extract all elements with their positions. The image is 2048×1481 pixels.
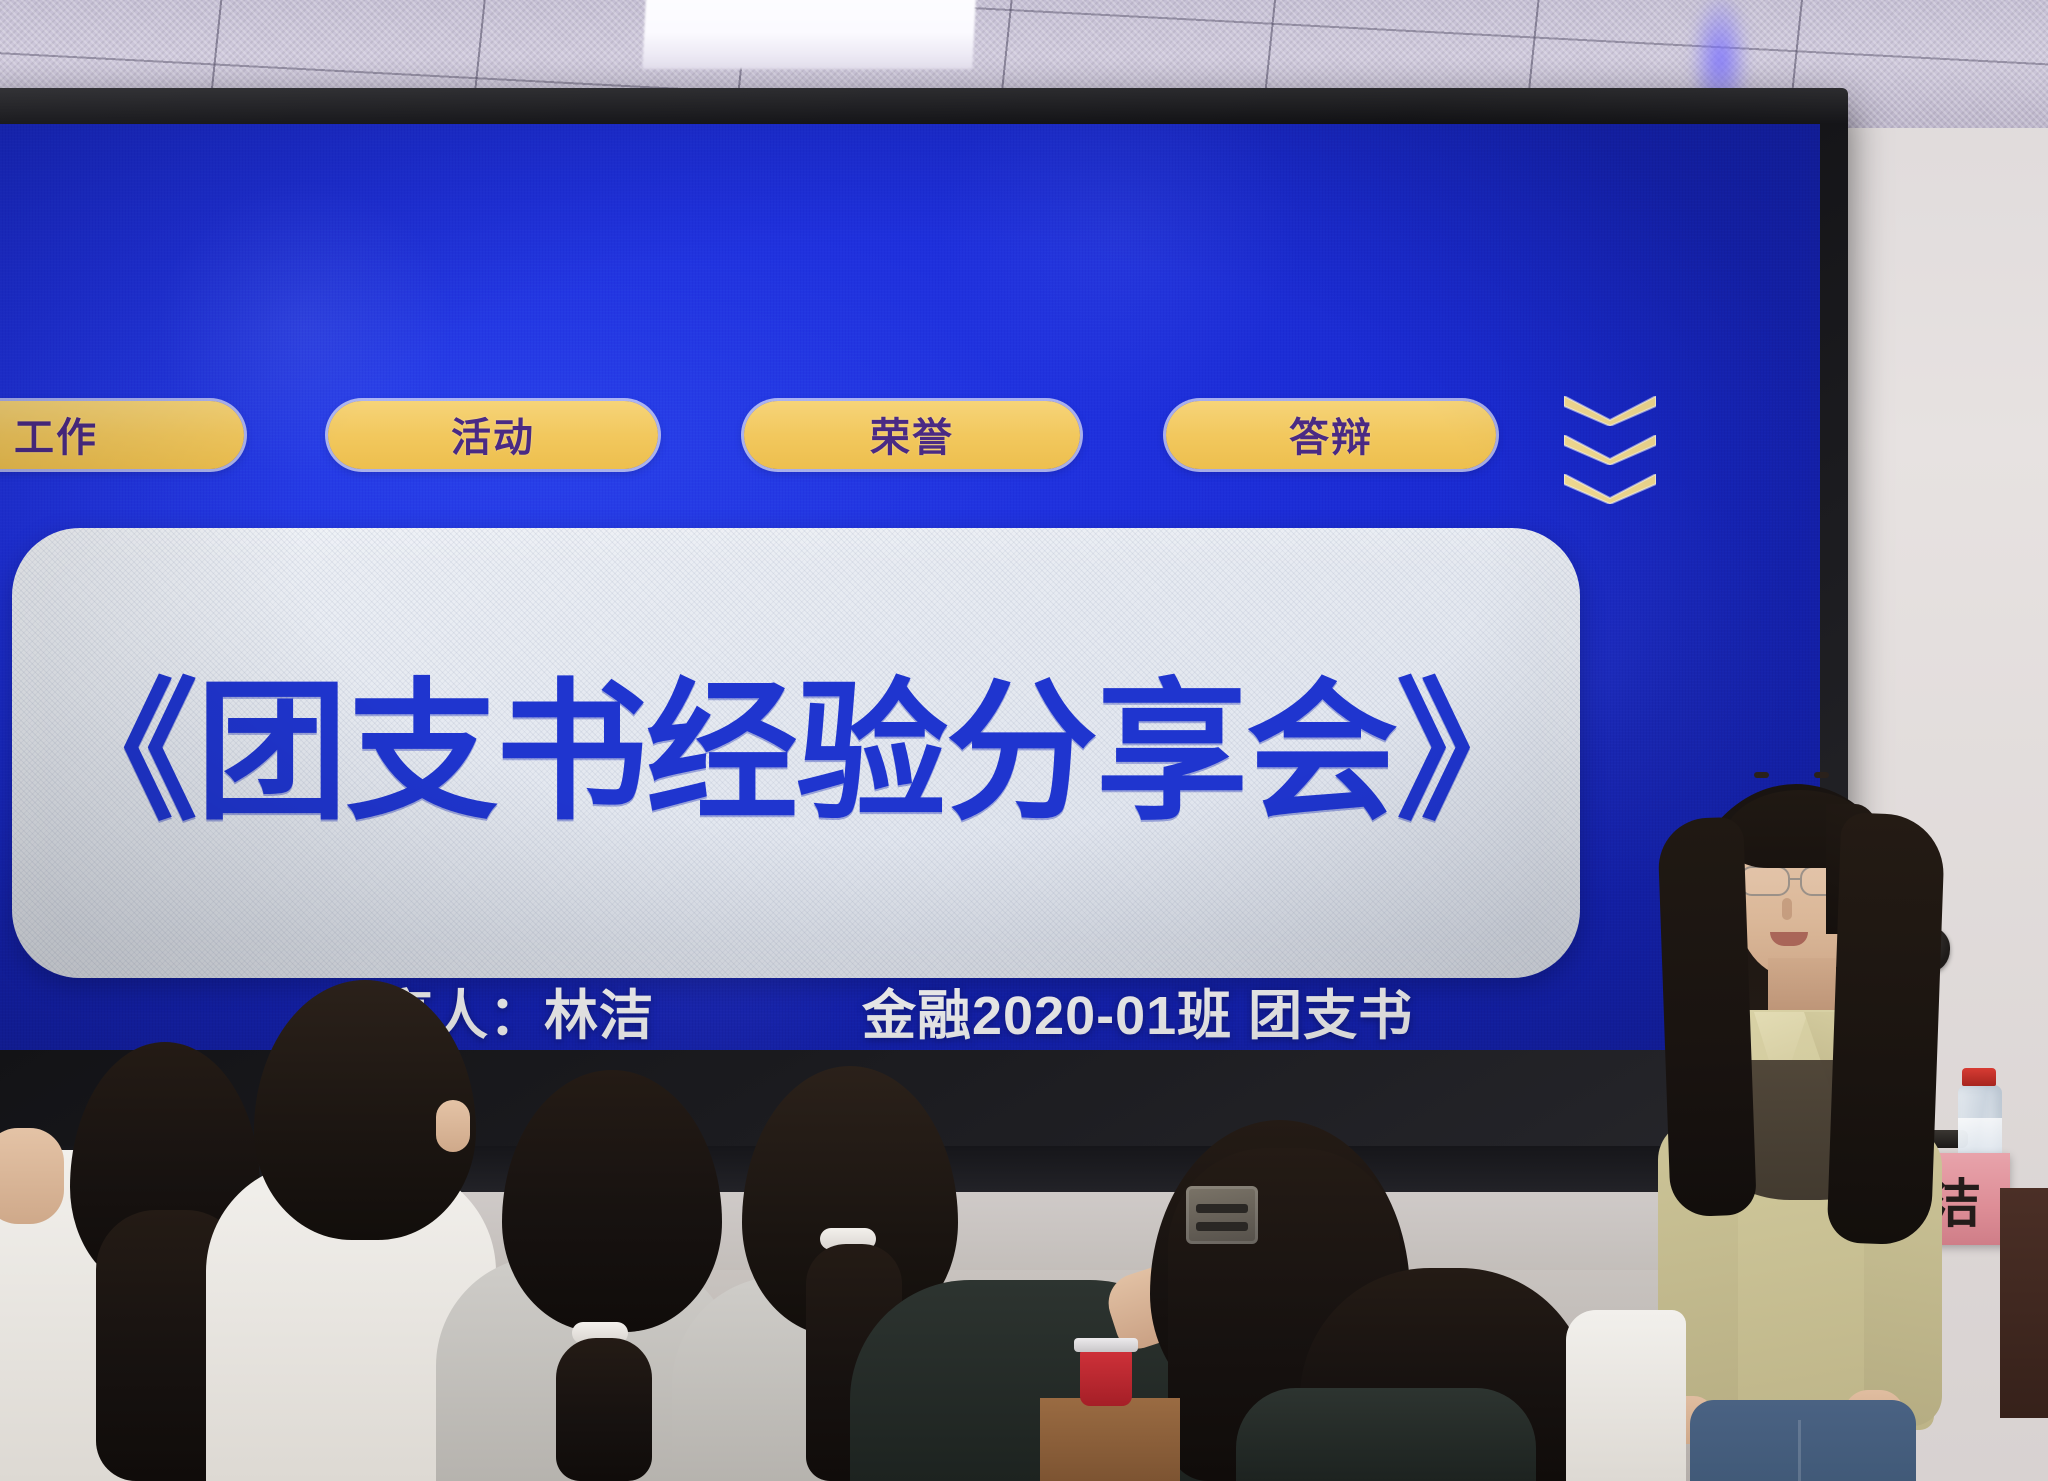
paper-cup xyxy=(1080,1348,1132,1406)
presenter-eye-right xyxy=(1814,772,1829,778)
hair-clip-bar xyxy=(1196,1222,1248,1231)
audience-chair-back xyxy=(1566,1310,1686,1481)
water-bottle-label xyxy=(1958,1118,2002,1158)
screenshot-root: 工作 活动 荣誉 答辩 xyxy=(0,0,2048,1481)
audience-member-body xyxy=(1236,1388,1536,1481)
presenter-jeans-seam xyxy=(1798,1420,1801,1481)
presenter-hair-right xyxy=(1827,812,1946,1245)
presenter-hair-left xyxy=(1657,817,1757,1218)
water-bottle-cap xyxy=(1962,1068,1996,1086)
presenter-nose xyxy=(1782,898,1792,920)
podium-side-panel xyxy=(2000,1188,2048,1418)
hair-clip-bar xyxy=(1196,1204,1248,1213)
hair-clip-icon xyxy=(1186,1186,1258,1244)
audience-hand xyxy=(0,1128,64,1224)
audience-desk xyxy=(1040,1398,1180,1481)
presenter-jeans xyxy=(1690,1400,1916,1481)
ceiling-light-panel xyxy=(642,0,978,69)
glasses-bridge xyxy=(1790,878,1802,880)
paper-cup-lid xyxy=(1074,1338,1138,1352)
bezel-sheen xyxy=(0,88,1848,124)
audience-member-hair-tail xyxy=(556,1338,652,1481)
glasses-lens-left xyxy=(1740,866,1790,896)
audience-member-ear xyxy=(436,1100,470,1152)
presenter-eye-left xyxy=(1754,772,1769,778)
screen-vignette xyxy=(0,124,1820,1050)
presenter xyxy=(1658,760,1948,1481)
presentation-screen: 工作 活动 荣誉 答辩 xyxy=(0,124,1820,1050)
